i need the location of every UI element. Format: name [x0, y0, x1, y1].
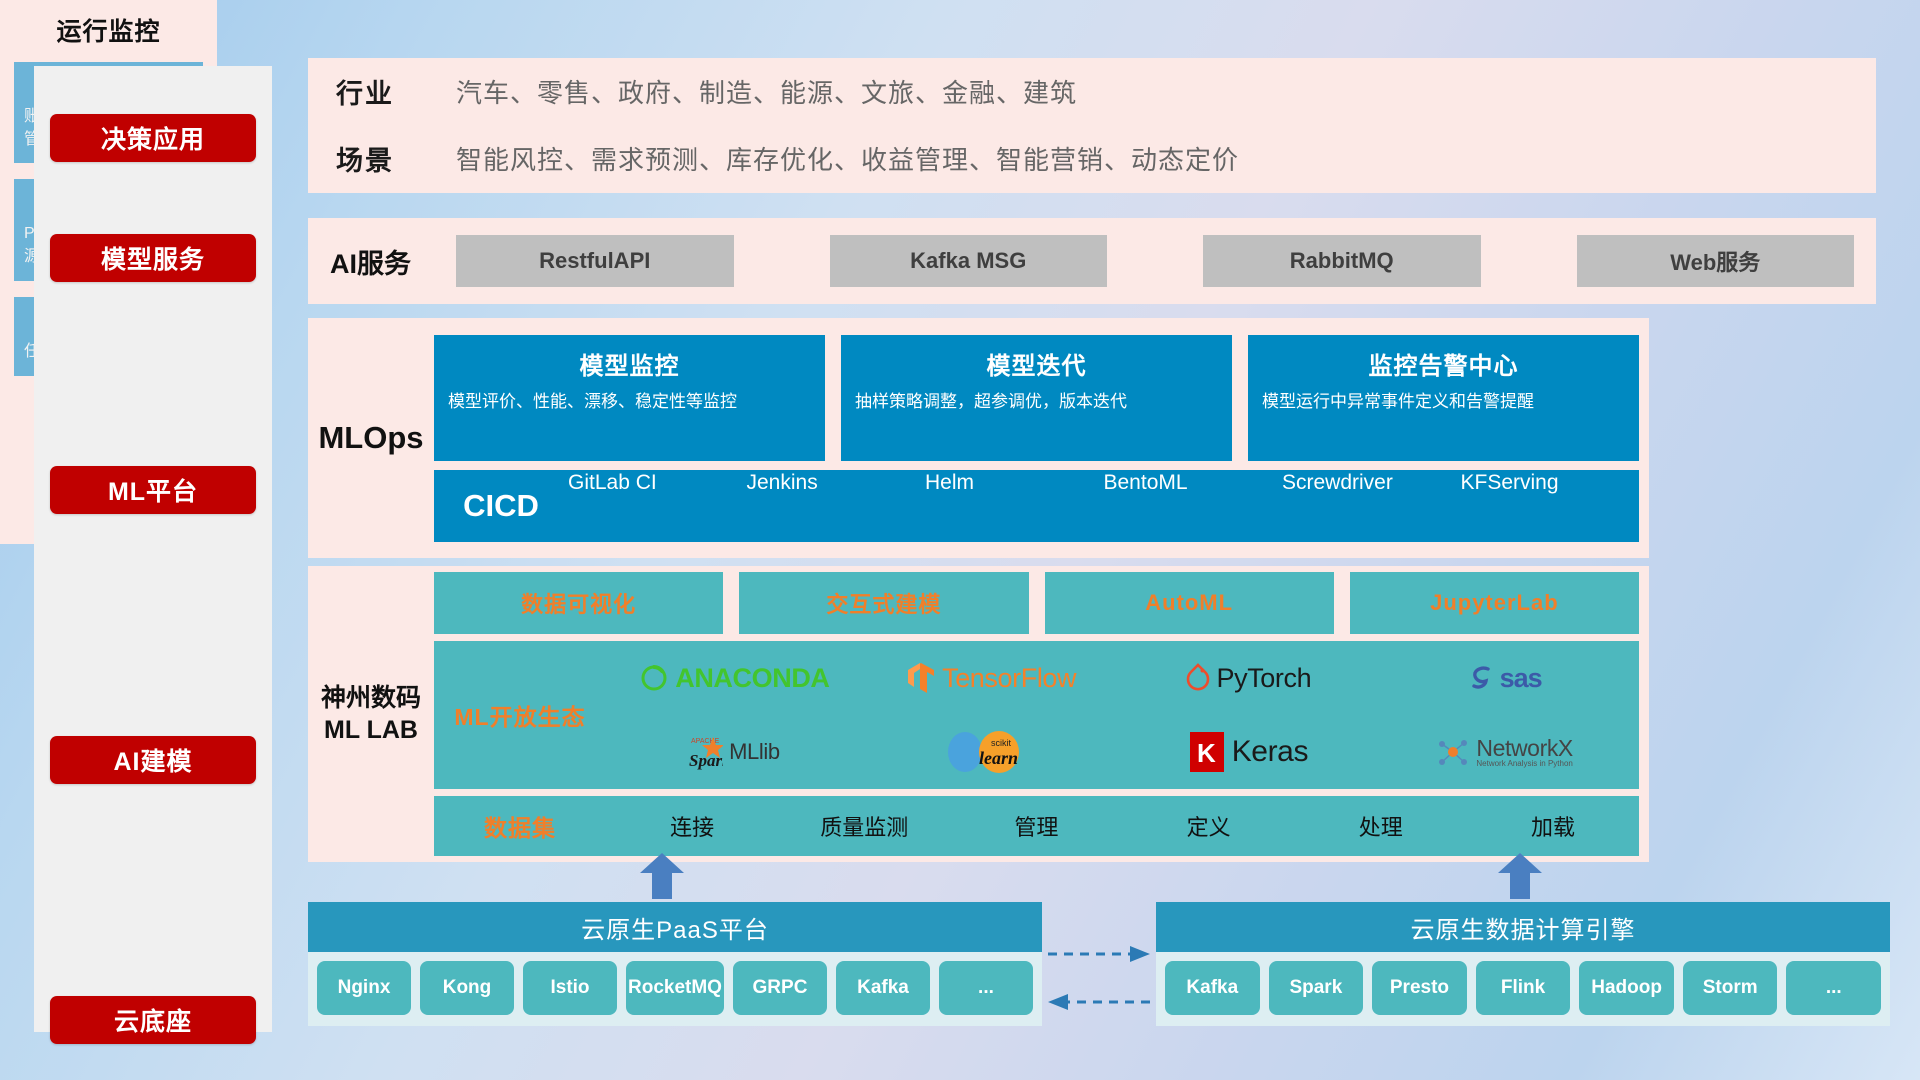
networkx-wordmark: NetworkX [1476, 737, 1573, 760]
ai-service-band: AI服务 RestfulAPI Kafka MSG RabbitMQ Web服务 [308, 218, 1876, 304]
mlops-content: 模型监控 模型评价、性能、漂移、稳定性等监控 模型迭代 抽样策略调整，超参调优，… [434, 335, 1649, 542]
cicd-label: CICD [434, 488, 568, 524]
industry-label: 行业 [336, 72, 456, 111]
industry-row: 行业 汽车、零售、政府、制造、能源、文旅、金融、建筑 [308, 58, 1876, 125]
card-desc: 模型运行中异常事件定义和告警提醒 [1262, 390, 1625, 414]
scikit-learn-logo: scikit learn [943, 730, 1039, 774]
dataset-item-manage[interactable]: 管理 [950, 810, 1122, 842]
cicd-item-gitlab-ci[interactable]: GitLab CI [568, 471, 747, 541]
networkx-tagline: Network Analysis in Python [1476, 760, 1573, 768]
data-compute-engine-block: 云原生数据计算引擎 Kafka Spark Presto Flink Hadoo… [1156, 902, 1890, 1026]
scenario-values: 智能风控、需求预测、库存优化、收益管理、智能营销、动态定价 [456, 140, 1239, 177]
svg-text:learn: learn [979, 748, 1018, 768]
svg-text:scikit: scikit [991, 738, 1011, 748]
engine-chip-presto[interactable]: Presto [1372, 961, 1467, 1015]
mlops-card-model-iteration[interactable]: 模型迭代 抽样策略调整，超参调优，版本迭代 [841, 335, 1232, 461]
ml-lab-title-line2: ML LAB [308, 714, 434, 747]
pytorch-logo: PyTorch [1185, 662, 1312, 694]
mlops-band: MLOps 模型监控 模型评价、性能、漂移、稳定性等监控 模型迭代 抽样策略调整… [308, 318, 1649, 558]
pytorch-wordmark: PyTorch [1217, 663, 1312, 694]
ai-service-items: RestfulAPI Kafka MSG RabbitMQ Web服务 [456, 235, 1854, 287]
paas-chip-kafka[interactable]: Kafka [836, 961, 930, 1015]
ml-ecosystem-logos: ANACONDA TensorFlow PyTorch [606, 641, 1639, 789]
tool-chip-automl[interactable]: AutoML [1045, 572, 1334, 634]
svg-text:K: K [1197, 738, 1216, 768]
cicd-items: GitLab CI Jenkins Helm BentoML Screwdriv… [568, 471, 1639, 541]
cicd-item-screwdriver[interactable]: Screwdriver [1282, 471, 1461, 541]
engine-chip-spark[interactable]: Spark [1269, 961, 1364, 1015]
ml-lab-title-line1: 神州数码 [308, 682, 434, 715]
rail-item-ml-platform[interactable]: ML平台 [50, 466, 256, 514]
networkx-logo: NetworkX Network Analysis in Python [1436, 735, 1573, 769]
cicd-item-helm[interactable]: Helm [925, 471, 1104, 541]
anaconda-icon [639, 663, 669, 693]
mlops-card-list: 模型监控 模型评价、性能、漂移、稳定性等监控 模型迭代 抽样策略调整，超参调优，… [434, 335, 1639, 461]
engine-chip-more[interactable]: ... [1786, 961, 1881, 1015]
dataset-item-process[interactable]: 处理 [1295, 810, 1467, 842]
paas-chip-grpc[interactable]: GRPC [733, 961, 827, 1015]
cicd-item-kfserving[interactable]: KFServing [1461, 471, 1640, 541]
keras-icon: K [1188, 731, 1226, 773]
mlops-title: MLOps [308, 420, 434, 456]
engine-chip-kafka[interactable]: Kafka [1165, 961, 1260, 1015]
engine-chip-hadoop[interactable]: Hadoop [1579, 961, 1674, 1015]
paas-chip-row: Nginx Kong Istio RocketMQ GRPC Kafka ... [308, 952, 1042, 1026]
card-title: 监控告警中心 [1262, 346, 1625, 381]
cicd-item-jenkins[interactable]: Jenkins [747, 471, 926, 541]
ai-modeling-content: 数据可视化 交互式建模 AutoML JupyterLab ML开放生态 ANA… [434, 572, 1649, 856]
ml-lab-title: 神州数码 ML LAB [308, 682, 434, 747]
tool-chip-row: 数据可视化 交互式建模 AutoML JupyterLab [434, 572, 1639, 634]
tool-chip-jupyterlab[interactable]: JupyterLab [1350, 572, 1639, 634]
networkx-graph-icon [1436, 735, 1470, 769]
card-title: 模型迭代 [855, 346, 1218, 381]
left-rail: 决策应用 模型服务 ML平台 AI建模 云底座 [34, 66, 272, 1032]
paas-chip-rocketmq[interactable]: RocketMQ [626, 961, 724, 1015]
paas-platform-title: 云原生PaaS平台 [308, 902, 1042, 952]
rail-item-model-service[interactable]: 模型服务 [50, 234, 256, 282]
spark-mllib-logo: APACHE Spark MLlib [689, 733, 780, 771]
card-desc: 模型评价、性能、漂移、稳定性等监控 [448, 390, 811, 414]
industry-scenario-band: 行业 汽车、零售、政府、制造、能源、文旅、金融、建筑 场景 智能风控、需求预测、… [308, 58, 1876, 193]
keras-wordmark: Keras [1232, 735, 1308, 769]
data-engine-chip-row: Kafka Spark Presto Flink Hadoop Storm ..… [1156, 952, 1890, 1026]
pytorch-icon [1185, 662, 1211, 694]
anaconda-wordmark: ANACONDA [675, 663, 829, 694]
paas-platform-block: 云原生PaaS平台 Nginx Kong Istio RocketMQ GRPC… [308, 902, 1042, 1026]
paas-chip-more[interactable]: ... [939, 961, 1033, 1015]
runtime-monitoring-title: 运行监控 [14, 12, 203, 48]
scenario-label: 场景 [336, 139, 456, 178]
dataset-item-quality[interactable]: 质量监测 [778, 810, 950, 842]
mlops-card-model-monitoring[interactable]: 模型监控 模型评价、性能、漂移、稳定性等监控 [434, 335, 825, 461]
rail-item-decision-app[interactable]: 决策应用 [50, 114, 256, 162]
sas-icon [1468, 664, 1494, 692]
ml-ecosystem-label: ML开放生态 [434, 698, 606, 732]
paas-chip-istio[interactable]: Istio [523, 961, 617, 1015]
scenario-row: 场景 智能风控、需求预测、库存优化、收益管理、智能营销、动态定价 [308, 125, 1876, 192]
paas-chip-kong[interactable]: Kong [420, 961, 514, 1015]
tensorflow-logo: TensorFlow [906, 661, 1076, 695]
mllib-wordmark: MLlib [729, 739, 780, 765]
rail-item-cloud-base[interactable]: 云底座 [50, 996, 256, 1044]
svg-text:Spark: Spark [689, 751, 723, 770]
keras-logo: K Keras [1188, 731, 1308, 773]
cicd-item-bentoml[interactable]: BentoML [1104, 471, 1283, 541]
ai-chip-rabbitmq[interactable]: RabbitMQ [1203, 235, 1481, 287]
dataset-item-define[interactable]: 定义 [1123, 810, 1295, 842]
ml-ecosystem-row: ML开放生态 ANACONDA TensorFlow [434, 641, 1639, 789]
dataset-items: 连接 质量监测 管理 定义 处理 加载 [606, 810, 1639, 842]
scikit-learn-icon: scikit learn [943, 730, 1039, 774]
tensorflow-wordmark: TensorFlow [942, 663, 1076, 694]
rail-item-ai-modeling[interactable]: AI建模 [50, 736, 256, 784]
ai-chip-kafka-msg[interactable]: Kafka MSG [830, 235, 1108, 287]
ai-modeling-band: 神州数码 ML LAB 数据可视化 交互式建模 AutoML JupyterLa… [308, 566, 1649, 862]
bidirectional-link-arrows-icon [1046, 940, 1152, 1020]
dataset-item-connect[interactable]: 连接 [606, 810, 778, 842]
dataset-row: 数据集 连接 质量监测 管理 定义 处理 加载 [434, 796, 1639, 856]
up-arrow-data-engine-icon [1496, 853, 1544, 899]
mlops-card-alert-center[interactable]: 监控告警中心 模型运行中异常事件定义和告警提醒 [1248, 335, 1639, 461]
engine-chip-flink[interactable]: Flink [1476, 961, 1571, 1015]
anaconda-logo: ANACONDA [639, 663, 829, 694]
spark-icon: APACHE Spark [689, 733, 723, 771]
card-desc: 抽样策略调整，超参调优，版本迭代 [855, 390, 1218, 414]
dataset-label: 数据集 [434, 809, 606, 843]
ai-chip-restfulapi[interactable]: RestfulAPI [456, 235, 734, 287]
ai-service-title: AI服务 [330, 242, 456, 281]
tensorflow-icon [906, 661, 936, 695]
sas-logo: sas [1468, 663, 1542, 694]
paas-chip-nginx[interactable]: Nginx [317, 961, 411, 1015]
tool-chip-interactive-modeling[interactable]: 交互式建模 [739, 572, 1028, 634]
data-compute-engine-title: 云原生数据计算引擎 [1156, 902, 1890, 952]
cicd-bar: CICD GitLab CI Jenkins Helm BentoML Scre… [434, 470, 1639, 542]
sas-wordmark: sas [1500, 663, 1542, 694]
engine-chip-storm[interactable]: Storm [1683, 961, 1778, 1015]
card-title: 模型监控 [448, 346, 811, 381]
industry-values: 汽车、零售、政府、制造、能源、文旅、金融、建筑 [456, 73, 1077, 110]
ai-chip-web-service[interactable]: Web服务 [1577, 235, 1855, 287]
up-arrow-paas-icon [638, 853, 686, 899]
tool-chip-data-visualization[interactable]: 数据可视化 [434, 572, 723, 634]
dataset-item-load[interactable]: 加载 [1467, 810, 1639, 842]
